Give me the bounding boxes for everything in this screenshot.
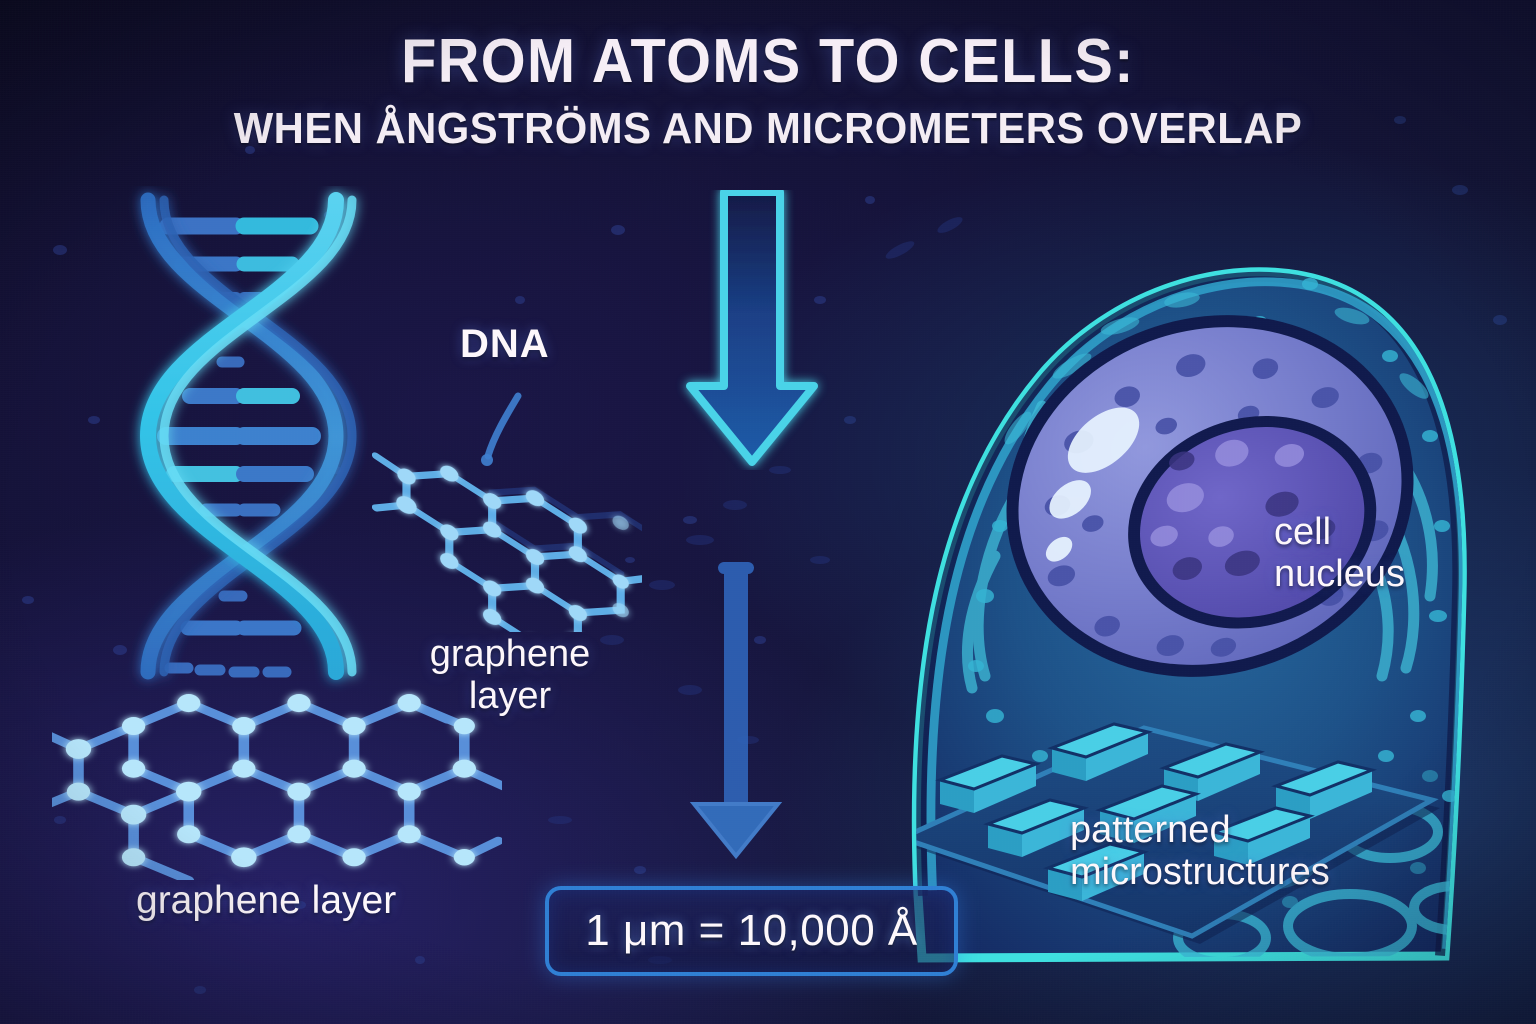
infographic-canvas: From Atoms to Cells: When Ångströms and … bbox=[0, 0, 1536, 1024]
grain-overlay bbox=[0, 0, 1536, 1024]
